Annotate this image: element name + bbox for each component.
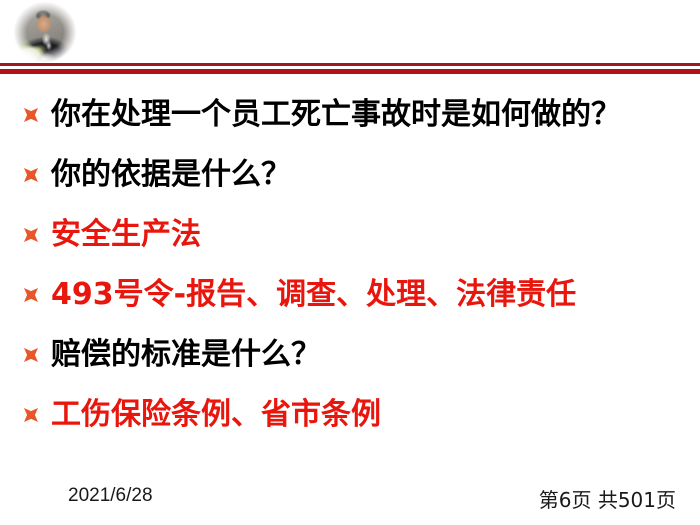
- star-bullet-icon: [24, 348, 38, 362]
- star-bullet-icon: [24, 228, 38, 242]
- star-bullet-icon: [24, 408, 38, 422]
- footer-date: 2021/6/28: [68, 485, 153, 507]
- bullet-item-5-label: 赔偿的标准是什么？: [51, 338, 321, 371]
- bullet-item-2-label: 你的依据是什么？: [51, 158, 291, 191]
- bullet-item-2: 你的依据是什么？: [0, 144, 700, 204]
- bullet-item-3-label: 安全生产法: [51, 218, 201, 251]
- bullet-item-4: 493号令-报告、调查、处理、法律责任: [0, 264, 700, 324]
- slide-footer: 2021/6/28 第6页 共501页: [0, 471, 700, 525]
- star-bullet-icon: [24, 168, 38, 182]
- bullet-item-1-label: 你在处理一个员工死亡事故时是如何做的？: [51, 98, 621, 131]
- slide-canvas: 你在处理一个员工死亡事故时是如何做的？ 你的依据是什么？ 安全生产法 493号令…: [0, 0, 700, 525]
- star-bullet-icon: [24, 108, 38, 122]
- bullet-item-5: 赔偿的标准是什么？: [0, 324, 700, 384]
- bullet-item-6: 工伤保险条例、省市条例: [0, 384, 700, 444]
- footer-page-indicator: 第6页 共501页: [539, 484, 676, 513]
- bullet-list: 你在处理一个员工死亡事故时是如何做的？ 你的依据是什么？ 安全生产法 493号令…: [0, 84, 700, 444]
- speaker-portrait-image: [13, 1, 77, 63]
- header-divider: [0, 63, 700, 74]
- divider-line-lower: [0, 69, 700, 74]
- star-bullet-icon: [24, 288, 38, 302]
- portrait-photo-content: [13, 1, 77, 63]
- bullet-item-4-label: 493号令-报告、调查、处理、法律责任: [51, 278, 576, 311]
- bullet-item-6-label: 工伤保险条例、省市条例: [51, 398, 381, 431]
- bullet-item-3: 安全生产法: [0, 204, 700, 264]
- slide-header: [0, 0, 700, 64]
- bullet-item-1: 你在处理一个员工死亡事故时是如何做的？: [0, 84, 700, 144]
